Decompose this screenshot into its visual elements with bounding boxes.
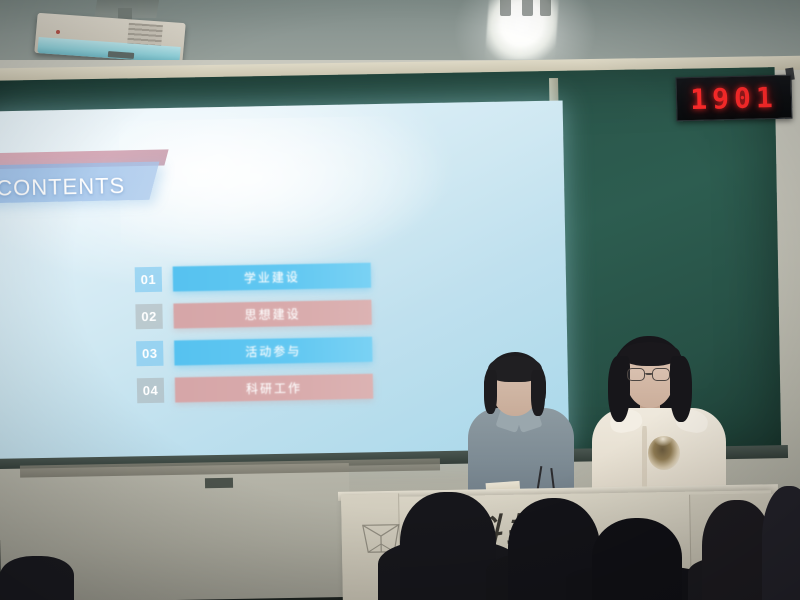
contents-number: 01 <box>135 267 162 293</box>
contents-number: 02 <box>135 304 162 330</box>
hair-side-right <box>531 370 545 416</box>
contents-item-01: 01 学业建设 <box>135 260 372 296</box>
ceiling-light-slat <box>522 0 533 16</box>
presenter-right <box>596 336 726 502</box>
shirt-print-highlight <box>654 432 672 446</box>
contents-label: 科研工作 <box>175 374 373 403</box>
audience-head <box>0 556 74 600</box>
audience-head <box>592 518 682 600</box>
contents-number: 04 <box>137 378 164 404</box>
slide-contents-list: 01 学业建设 02 思想建设 03 活动参与 04 科研工作 <box>135 260 374 413</box>
contents-number: 03 <box>136 341 163 367</box>
slide-banner-title: 目录 /CONTENTS <box>0 168 126 204</box>
contents-label: 学业建设 <box>173 263 371 292</box>
chalk-tray-clip <box>205 478 233 488</box>
contents-item-03: 03 活动参与 <box>136 334 373 370</box>
led-clock: 1901 <box>675 75 792 122</box>
classroom-scene: 目录 /CONTENTS 01 学业建设 02 思想建设 03 活动参与 04 … <box>0 0 800 600</box>
contents-item-04: 04 科研工作 <box>137 371 374 407</box>
glasses-bridge-icon <box>645 373 653 375</box>
hair-side-right <box>670 356 692 422</box>
audience-head <box>762 486 800 600</box>
glasses-lens-right-icon <box>652 368 670 381</box>
ceiling-light-slat <box>540 0 551 16</box>
contents-label: 活动参与 <box>174 337 372 366</box>
hair-side-left <box>608 356 630 422</box>
clock-digits: 1901 <box>690 80 778 115</box>
contents-label: 思想建设 <box>173 300 371 329</box>
hair-side-left <box>484 370 497 414</box>
ceiling-light-slat <box>500 0 511 16</box>
contents-item-02: 02 思想建设 <box>135 297 372 333</box>
glasses-lens-left-icon <box>627 368 645 381</box>
audience-head <box>400 492 496 600</box>
presenter-left <box>470 352 582 502</box>
